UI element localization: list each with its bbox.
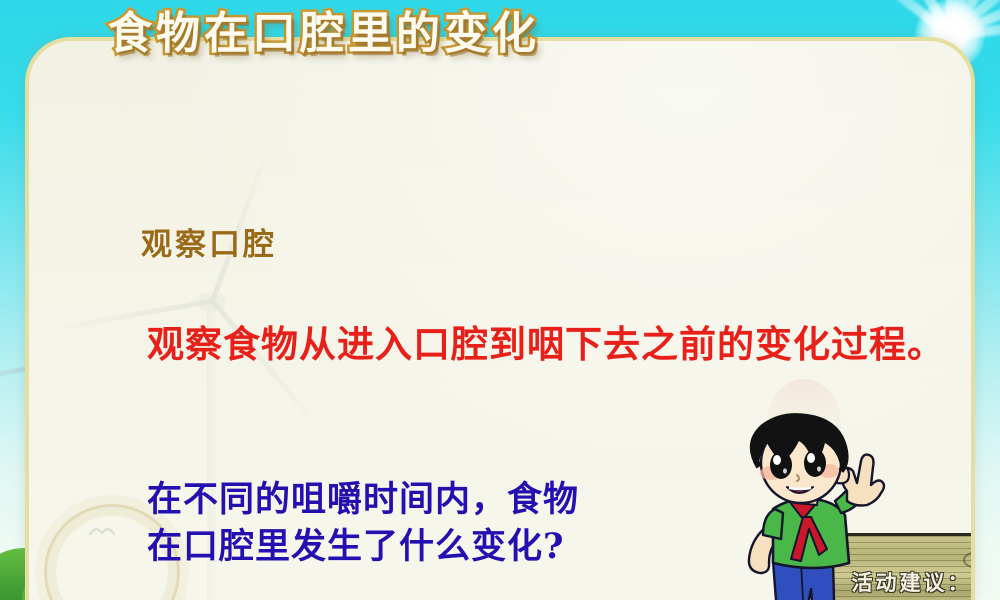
content-panel: 观察口腔 观察食物从进入口腔到咽下去之前的变化过程。 在不同的咀嚼时间内，食物 … [25,37,975,600]
wood-knot-icon [963,552,975,568]
question-paragraph: 在不同的咀嚼时间内，食物 在口腔里发生了什么变化? [147,477,707,570]
instruction-paragraph: 观察食物从进入口腔到咽下去之前的变化过程。 [147,319,975,370]
cartoon-boy-svg [729,413,909,600]
question-line-2: 在口腔里发生了什么变化? [147,524,707,571]
section-heading: 观察口腔 [141,219,277,264]
question-line-1: 在不同的咀嚼时间内，食物 [147,477,707,524]
cartoon-boy-illustration [729,413,909,600]
page-title: 食物在口腔里的变化 [108,12,540,56]
slide-canvas: 观察口腔 观察食物从进入口腔到咽下去之前的变化过程。 在不同的咀嚼时间内，食物 … [0,0,1000,600]
bird-watermark [89,524,115,542]
